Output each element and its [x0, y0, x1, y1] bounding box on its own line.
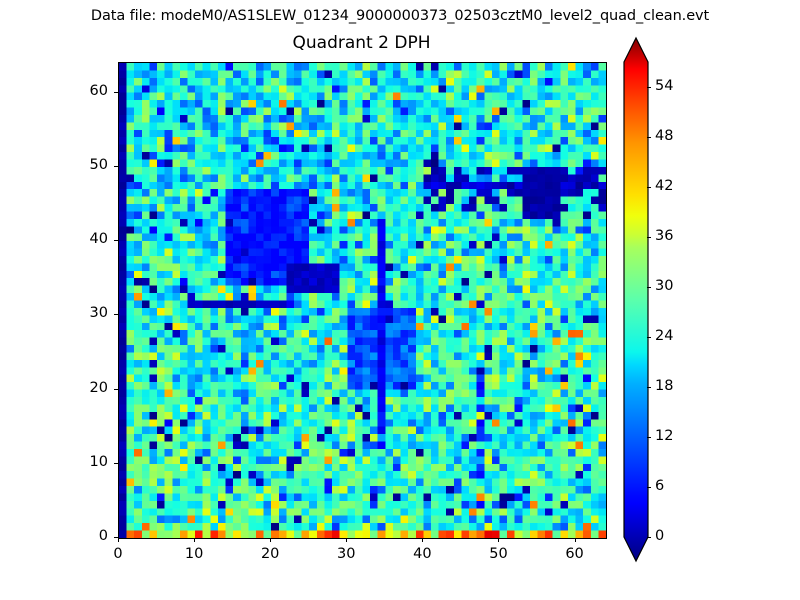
colorbar-tick-mark: [647, 387, 651, 388]
colorbar-tick-label: 24: [655, 329, 673, 344]
y-tick-label: 20: [48, 381, 108, 396]
y-tick-mark: [114, 389, 118, 390]
x-tick-mark: [346, 538, 347, 542]
colorbar-tick-mark: [647, 287, 651, 288]
data-file-label: Data file: modeM0/AS1SLEW_01234_90000003…: [0, 7, 800, 25]
x-tick-label: 0: [88, 547, 148, 562]
x-tick-mark: [575, 538, 576, 542]
x-tick-mark: [498, 538, 499, 542]
colorbar-tick-label: 36: [655, 229, 673, 244]
colorbar-tick-mark: [647, 487, 651, 488]
colorbar-tick-label: 42: [655, 179, 673, 194]
colorbar-tick-mark: [647, 337, 651, 338]
y-tick-label: 40: [48, 232, 108, 247]
colorbar-tick-label: 30: [655, 279, 673, 294]
colorbar-tick-label: 18: [655, 379, 673, 394]
colorbar-tick-mark: [647, 237, 651, 238]
figure-canvas: Data file: modeM0/AS1SLEW_01234_90000003…: [0, 0, 800, 600]
plot-title: Quadrant 2 DPH: [118, 33, 605, 54]
colorbar-tick-label: 54: [655, 79, 673, 94]
x-tick-label: 50: [468, 547, 528, 562]
y-tick-label: 60: [48, 84, 108, 99]
colorbar-tick-mark: [647, 437, 651, 438]
colorbar-tick-label: 6: [655, 479, 664, 494]
x-tick-label: 30: [316, 547, 376, 562]
colorbar-tick-mark: [647, 87, 651, 88]
colorbar-tick-mark: [647, 537, 651, 538]
colorbar-gradient: [623, 37, 648, 562]
y-tick-mark: [114, 166, 118, 167]
colorbar-tick-label: 12: [655, 429, 673, 444]
x-tick-mark: [118, 538, 119, 542]
y-tick-mark: [114, 240, 118, 241]
y-tick-label: 50: [48, 158, 108, 173]
colorbar-tick-mark: [647, 187, 651, 188]
detector-heatmap-image[interactable]: [119, 63, 606, 538]
colorbar-tick-mark: [647, 137, 651, 138]
colorbar-tick-label: 48: [655, 129, 673, 144]
y-tick-label: 30: [48, 306, 108, 321]
y-tick-label: 0: [48, 529, 108, 544]
colorbar[interactable]: 061218243036424854: [624, 62, 647, 537]
y-tick-mark: [114, 463, 118, 464]
x-tick-mark: [270, 538, 271, 542]
colorbar-tick-label: 0: [655, 529, 664, 544]
x-tick-label: 20: [240, 547, 300, 562]
y-tick-mark: [114, 314, 118, 315]
y-tick-label: 10: [48, 455, 108, 470]
heatmap-axes[interactable]: [118, 62, 607, 539]
x-tick-label: 10: [164, 547, 224, 562]
y-tick-mark: [114, 92, 118, 93]
x-tick-mark: [422, 538, 423, 542]
x-tick-label: 40: [392, 547, 452, 562]
x-tick-mark: [194, 538, 195, 542]
x-tick-label: 60: [545, 547, 605, 562]
